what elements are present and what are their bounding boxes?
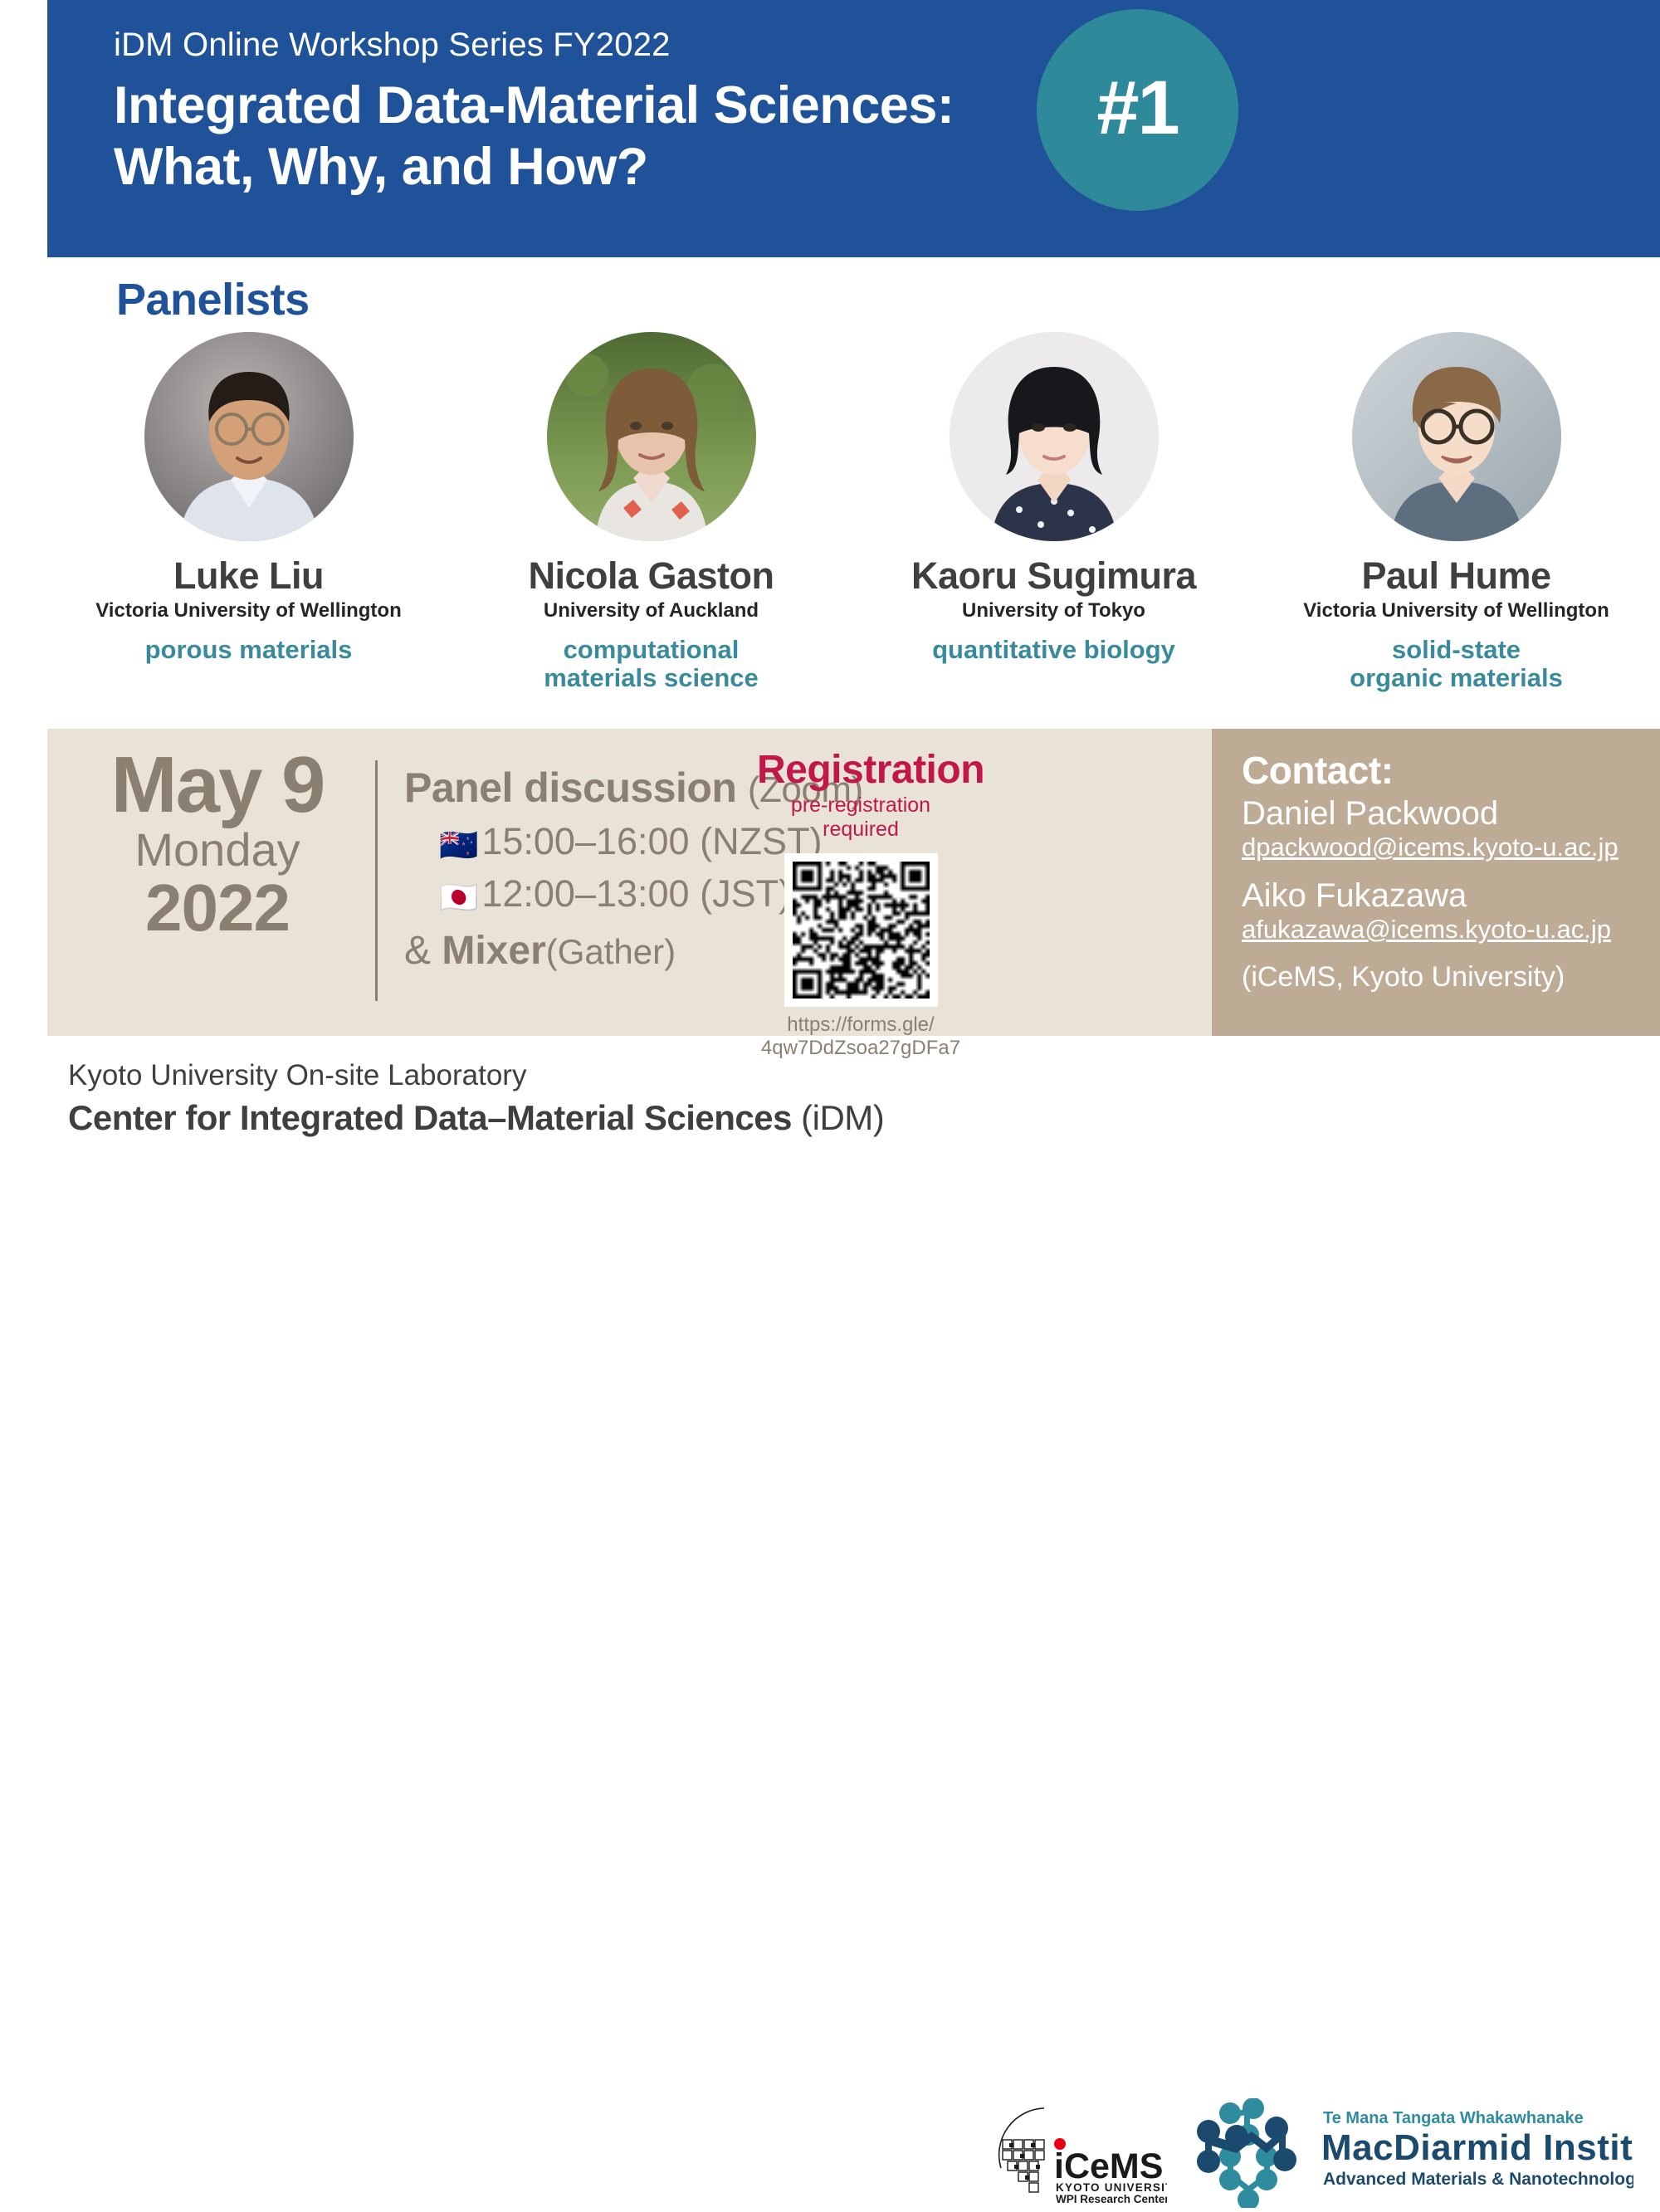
macdiarmid-molecule-mark [1197, 2098, 1296, 2208]
title-line-2: What, Why, and How? [114, 136, 954, 198]
issue-number-label: #1 [1096, 70, 1178, 146]
contact-person-2-email[interactable]: afukazawa@icems.kyoto-u.ac.jp [1242, 915, 1660, 945]
panelist-affiliation: University of Auckland [544, 600, 759, 622]
svg-text:iCeMS: iCeMS [1054, 2146, 1163, 2186]
session-time-jst-value: 12:00–13:00 (JST) [481, 872, 791, 915]
svg-text:KYOTO UNIVERSITY: KYOTO UNIVERSITY [1056, 2181, 1167, 2194]
mixer-platform: (Gather) [546, 932, 676, 971]
macdiarmid-institute-logo: Te Mana Tangata Whakawhanake MacDiarmid … [1194, 2098, 1633, 2208]
contact-heading: Contact: [1242, 750, 1660, 790]
icems-logo: iCeMS KYOTO UNIVERSITY WPI Research Cent… [993, 2103, 1167, 2206]
page-title: Integrated Data-Material Sciences: What,… [114, 75, 954, 198]
registration-qr-code[interactable] [784, 853, 938, 1007]
header-band: iDM Online Workshop Series FY2022 Integr… [47, 0, 1660, 257]
macdiarmid-logo-icon: Te Mana Tangata Whakawhanake MacDiarmid … [1194, 2098, 1633, 2208]
footer-center-abbrev: (iDM) [792, 1098, 884, 1137]
event-date-dayofweek: Monday [72, 824, 363, 876]
event-date-block: May 9 Monday 2022 [72, 744, 363, 943]
contact-person-1-name: Daniel Packwood [1242, 795, 1660, 832]
registration-block: Registration pre-registration required h… [757, 750, 964, 1059]
contact-person-1-email[interactable]: dpackwood@icems.kyoto-u.ac.jp [1242, 833, 1660, 862]
issue-number-badge: #1 [1037, 9, 1238, 211]
panelist-name: Luke Liu [173, 556, 324, 595]
panelist-affiliation: Victoria University of Wellington [1303, 600, 1609, 622]
panelists-heading: Panelists [116, 274, 310, 325]
vertical-divider [375, 760, 378, 1001]
macdiarmid-maori-line: Te Mana Tangata Whakawhanake [1323, 2109, 1584, 2127]
footer: Kyoto University On-site Laboratory Cent… [0, 1043, 1660, 1174]
macdiarmid-tagline-line: Advanced Materials & Nanotechnology [1323, 2170, 1633, 2189]
portrait-illustration-icon [547, 332, 756, 541]
panelist-name: Nicola Gaston [528, 556, 774, 595]
footer-lab-line: Kyoto University On-site Laboratory [68, 1057, 884, 1094]
contact-panel: Contact: Daniel Packwood dpackwood@icems… [1212, 729, 1660, 1036]
registration-title: Registration [757, 750, 964, 790]
portrait-illustration-icon [144, 332, 354, 541]
flag-japan-icon: 🇯🇵 [439, 881, 478, 916]
svg-text:WPI Research Center: WPI Research Center [1056, 2193, 1167, 2205]
icems-logo-icon: iCeMS KYOTO UNIVERSITY WPI Research Cent… [993, 2103, 1167, 2206]
panelist-affiliation: University of Tokyo [962, 600, 1145, 622]
footer-center-line: Center for Integrated Data–Material Scie… [68, 1096, 884, 1141]
flag-new-zealand-icon: 🇳🇿 [439, 828, 478, 863]
panelist-card: Paul Hume Victoria University of Welling… [1255, 332, 1658, 693]
portrait-illustration-icon [1352, 332, 1561, 541]
panelist-name: Paul Hume [1361, 556, 1550, 595]
footer-text: Kyoto University On-site Laboratory Cent… [68, 1057, 884, 1140]
avatar [144, 332, 354, 541]
portrait-illustration-icon [950, 332, 1159, 541]
event-date-year: 2022 [72, 873, 363, 943]
panelist-topic: porous materials [145, 636, 353, 665]
panelist-topic: solid-state organic materials [1350, 636, 1563, 693]
footer-center-name: Center for Integrated Data–Material Scie… [68, 1098, 792, 1137]
avatar [1352, 332, 1561, 541]
avatar [547, 332, 756, 541]
panelists-row: Luke Liu Victoria University of Wellingt… [47, 332, 1660, 693]
registration-subtitle: pre-registration required [757, 793, 964, 842]
qr-canvas[interactable] [793, 862, 930, 999]
event-date-monthday: May 9 [72, 744, 363, 828]
session-title: Panel discussion [404, 764, 736, 811]
panelist-topic: computational materials science [544, 636, 759, 693]
contact-person-2-name: Aiko Fukazawa [1242, 877, 1660, 914]
panelist-card: Kaoru Sugimura University of Tokyo quant… [852, 332, 1255, 693]
panelist-card: Luke Liu Victoria University of Wellingt… [47, 332, 450, 693]
panelist-name: Kaoru Sugimura [911, 556, 1196, 595]
panelist-affiliation: Victoria University of Wellington [95, 600, 402, 622]
series-eyebrow: iDM Online Workshop Series FY2022 [114, 27, 671, 64]
mixer-prefix: & [404, 929, 442, 973]
panelist-topic: quantitative biology [932, 636, 1175, 665]
info-band: May 9 Monday 2022 Panel discussion (Zoom… [47, 729, 1660, 1036]
panelist-card: Nicola Gaston University of Auckland com… [450, 332, 852, 693]
contact-inner: Contact: Daniel Packwood dpackwood@icems… [1212, 729, 1660, 994]
contact-organization: (iCeMS, Kyoto University) [1242, 961, 1660, 994]
avatar [950, 332, 1159, 541]
mixer-label: Mixer [442, 929, 545, 973]
registration-url-line1: https://forms.gle/ [757, 1013, 964, 1037]
title-line-1: Integrated Data-Material Sciences: [114, 75, 954, 136]
macdiarmid-name-line: MacDiarmid Institute [1321, 2127, 1633, 2168]
